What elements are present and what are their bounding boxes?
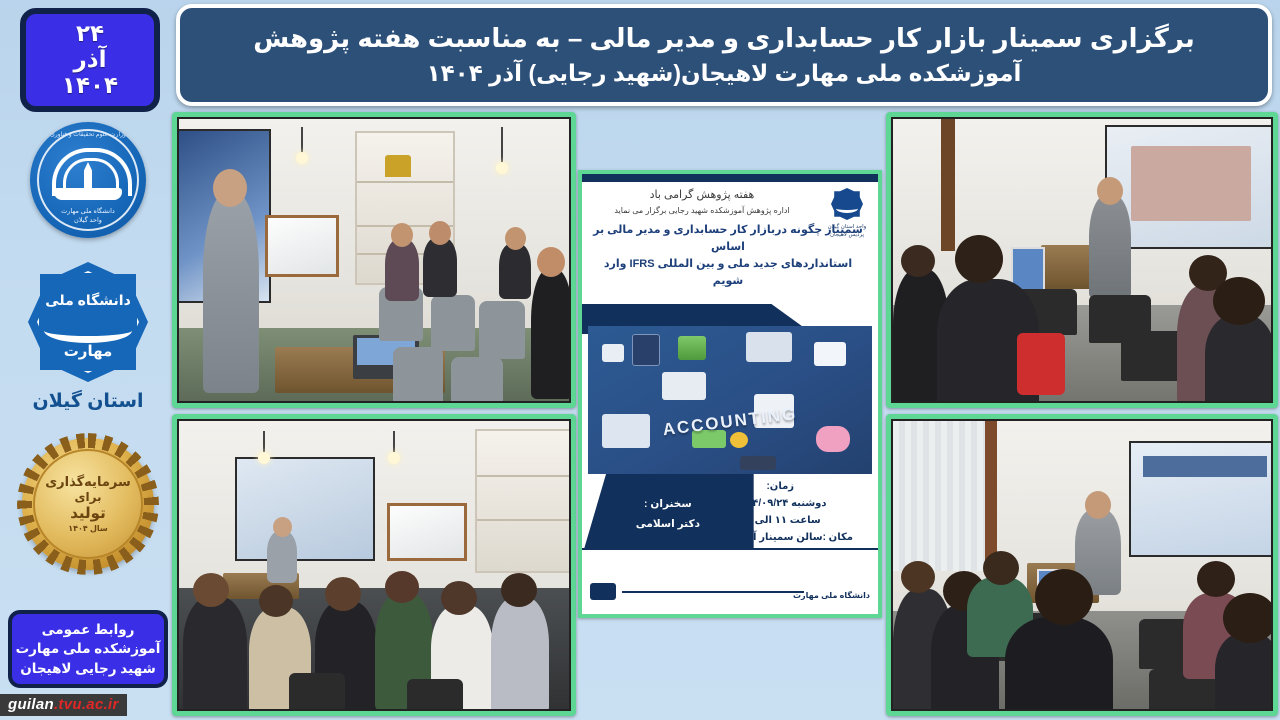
seal-top-text: وزارت علوم تحقیقات و فناوری	[30, 131, 146, 138]
seal-bottom-text: دانشگاه ملی مهارت واحد گیلان	[30, 208, 146, 226]
date-month: آذر	[74, 47, 107, 73]
seal-text-line1: دانشگاه ملی مهارت	[61, 208, 115, 215]
pr-line1: روابط عمومی	[42, 620, 135, 640]
photo-bottom-left	[172, 414, 576, 716]
poster-time-text: ساعت ۱۱ الی ۱۲	[688, 512, 872, 529]
pr-line3: شهید رجایی لاهیجان	[20, 659, 156, 679]
skill-university-shield-icon: دانشگاه ملی مهارت	[28, 262, 148, 382]
date-day: ۲۴	[76, 21, 104, 47]
poster-shield-icon	[831, 188, 863, 220]
photo-inner-border	[177, 419, 571, 711]
seal-text-line2: واحد گیلان	[74, 217, 102, 224]
photo-top-right	[886, 112, 1278, 408]
poster-title-line2: استانداردهای جدید ملی و بین المللی IFRS …	[590, 256, 866, 290]
poster-date-text: دوشنبه ۱۴۰۴/۰۹/۲۴	[688, 495, 872, 512]
poster-footer-text: دانشگاه ملی مهارت	[793, 591, 870, 600]
piggy-bank-icon	[816, 426, 850, 452]
shield-word-bottom: مهارت	[28, 342, 148, 360]
gold-seal-line4: سال ۱۴۰۴	[68, 524, 108, 534]
header-title-line2: آموزشکده ملی مهارت لاهیجان(شهید رجایی) آ…	[427, 60, 1022, 87]
poster-speaker-label: سخنران :	[644, 495, 692, 515]
url-name: guilan	[8, 696, 54, 713]
shield-calligraphy-swash	[44, 318, 132, 343]
header-title-bar: برگزاری سمینار بازار کار حسابداری و مدیر…	[176, 4, 1272, 106]
website-url-tag[interactable]: guilan.tvu.ac.ir	[0, 694, 127, 716]
sidebar: وزارت علوم تحقیقات و فناوری دانشگاه ملی …	[0, 110, 176, 720]
poster-logo-caption-2: پردیس لاهیجان	[824, 231, 870, 239]
poster-top-band	[582, 174, 878, 182]
university-seal-icon: وزارت علوم تحقیقات و فناوری دانشگاه ملی …	[30, 122, 146, 238]
url-domain: .tvu.ac.ir	[54, 696, 119, 713]
poster-time-label: زمان:	[688, 478, 872, 495]
invoice-icon	[602, 344, 624, 362]
gold-seal-line2: برای	[74, 490, 101, 505]
photo-top-left	[172, 112, 576, 408]
poster-university-logo: واحد استان گیلان پردیس لاهیجان	[824, 188, 870, 240]
poster-info-strip: سخنران : دکتر اسلامی زمان: دوشنبه ۱۴۰۴/۰…	[582, 474, 878, 556]
shield-word-top: دانشگاه ملی	[28, 292, 148, 309]
poster-footer: دانشگاه ملی مهارت	[582, 548, 878, 614]
poster-footer-rule	[622, 591, 804, 593]
photo-inner-border	[891, 419, 1273, 711]
date-year: ۱۴۰۴	[62, 73, 118, 99]
province-label: استان گیلان	[0, 390, 176, 413]
calendar-icon	[814, 342, 846, 366]
pr-line2: آموزشکده ملی مهارت	[16, 639, 161, 659]
seal-book-icon	[54, 188, 122, 200]
poster-accounting-illustration: ACCOUNTING	[588, 326, 872, 474]
gold-seal-line3: تولید	[70, 505, 105, 524]
credit-card-icon	[740, 456, 776, 470]
poster-header: واحد استان گیلان پردیس لاهیجان هفته پژوه…	[582, 182, 878, 312]
photo-bottom-right	[886, 414, 1278, 716]
gold-seal-face: سرمایه‌گذاری برای تولید سال ۱۴۰۴	[33, 449, 143, 559]
magnifier-report-icon	[662, 372, 706, 400]
date-badge: ۲۴ آذر ۱۴۰۴	[20, 8, 160, 112]
public-relations-box: روابط عمومی آموزشکده ملی مهارت شهید رجای…	[8, 610, 168, 688]
payment-terminal-icon	[632, 334, 660, 366]
national-year-gold-seal-icon: سرمایه‌گذاری برای تولید سال ۱۴۰۴	[22, 438, 154, 570]
poster-footer-block	[590, 583, 616, 600]
seminar-poster: واحد استان گیلان پردیس لاهیجان هفته پژوه…	[578, 170, 882, 618]
poster-logo-caption-1: واحد استان گیلان	[824, 223, 870, 231]
header-title-line1: برگزاری سمینار بازار کار حسابداری و مدیر…	[253, 23, 1195, 54]
banner-canvas: ۲۴ آذر ۱۴۰۴ برگزاری سمینار بازار کار حسا…	[0, 0, 1280, 720]
photo-inner-border	[891, 117, 1273, 403]
bar-chart-icon	[678, 336, 706, 360]
coins-icon	[730, 432, 748, 448]
photo-inner-border	[177, 117, 571, 403]
poster-logo-captions: واحد استان گیلان پردیس لاهیجان	[824, 223, 870, 240]
gold-seal-line1: سرمایه‌گذاری	[45, 474, 131, 490]
bank-building-icon	[746, 332, 792, 362]
